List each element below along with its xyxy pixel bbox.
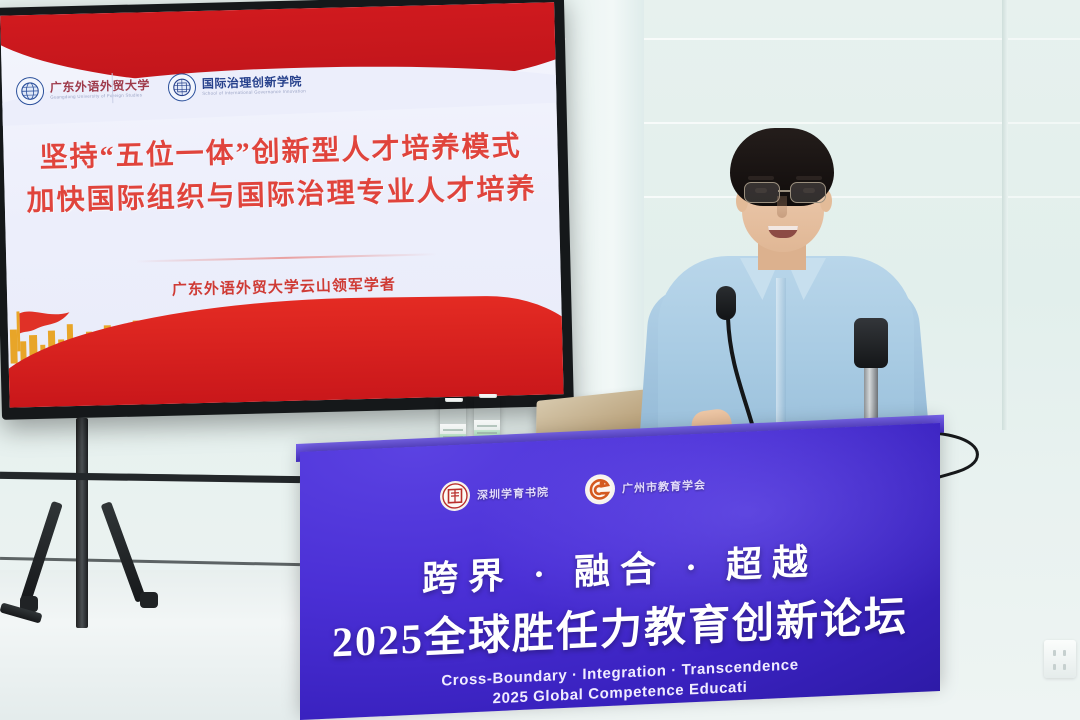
presenter-eyebrow [796, 176, 822, 180]
stand-caster [140, 592, 158, 608]
presentation-display[interactable]: 广东外语外贸大学 Guangdong University of Foreign… [0, 0, 574, 420]
wall-edge [1002, 0, 1008, 430]
podium-logo-1: 深圳学育书院 [440, 477, 549, 512]
presentation-slide: 广东外语外贸大学 Guangdong University of Foreign… [0, 2, 563, 407]
presenter-eyebrow [748, 176, 774, 180]
power-outlet[interactable] [1044, 640, 1076, 678]
podium-headline-block: 跨界 · 融合 · 超越 2025全球胜任力教育创新论坛 Cross-Bound… [300, 527, 940, 716]
floor-trim [0, 472, 300, 483]
podium-logo-2: 广州市教育学会 [585, 470, 706, 505]
glasses-bridge [778, 190, 790, 192]
university-logo-name-en: Guangdong University of Foreign Studies [50, 93, 150, 100]
glasses-lens [744, 182, 780, 203]
microphone-head [854, 318, 888, 368]
presenter-nose [777, 196, 787, 218]
stand-post [76, 418, 88, 628]
shenzhen-institute-seal-icon [440, 480, 470, 511]
globe-emblem-icon [16, 77, 45, 106]
podium-logo-1-name: 深圳学育书院 [477, 484, 549, 503]
floor [0, 570, 320, 720]
university-logo: 广东外语外贸大学 Guangdong University of Foreign… [16, 74, 151, 105]
slide-title: 坚持“五位一体”创新型人才培养模式 加快国际组织与国际治理专业人才培养 [3, 124, 559, 224]
bottle-cap [479, 394, 497, 398]
podium-front-panel: 深圳学育书院 广州市教育学会 跨界 · 融合 · 超越 2025全球胜任力教育创… [300, 423, 940, 720]
school-logo: 国际治理创新学院 School of International Governa… [168, 70, 306, 101]
school-logo-name-cn: 国际治理创新学院 [202, 75, 306, 90]
association-spiral-icon [585, 474, 615, 505]
glasses-lens [790, 182, 826, 203]
university-logo-name-cn: 广东外语外贸大学 [50, 79, 150, 93]
scene-description: 男性演讲者 / male presenter at podium [0, 0, 1, 1]
school-logo-name-en: School of International Governance Innov… [202, 89, 306, 96]
display-screen: 广东外语外贸大学 Guangdong University of Foreign… [0, 2, 563, 407]
governance-emblem-icon [168, 73, 197, 102]
podium-logo-2-name: 广州市教育学会 [622, 477, 706, 497]
photo-scene: 广东外语外贸大学 Guangdong University of Foreign… [0, 0, 1080, 720]
bottle-cap [445, 398, 463, 402]
title-divider [136, 253, 436, 262]
